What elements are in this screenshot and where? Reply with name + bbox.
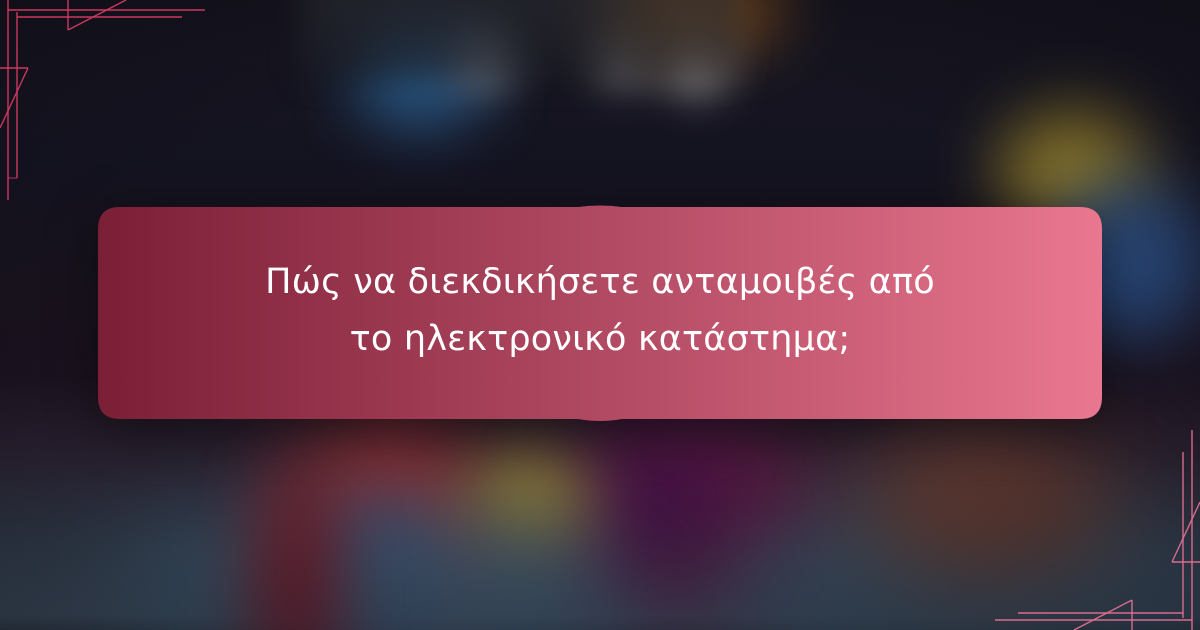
page-title: Πώς να διεκδικήσετε ανταμοιβές από το ηλ… — [250, 254, 950, 367]
headline-banner: Πώς να διεκδικήσετε ανταμοιβές από το ηλ… — [98, 185, 1102, 437]
banner-text-block: Πώς να διεκδικήσετε ανταμοιβές από το ηλ… — [98, 185, 1102, 437]
share-card: Πώς να διεκδικήσετε ανταμοιβές από το ηλ… — [0, 0, 1200, 630]
